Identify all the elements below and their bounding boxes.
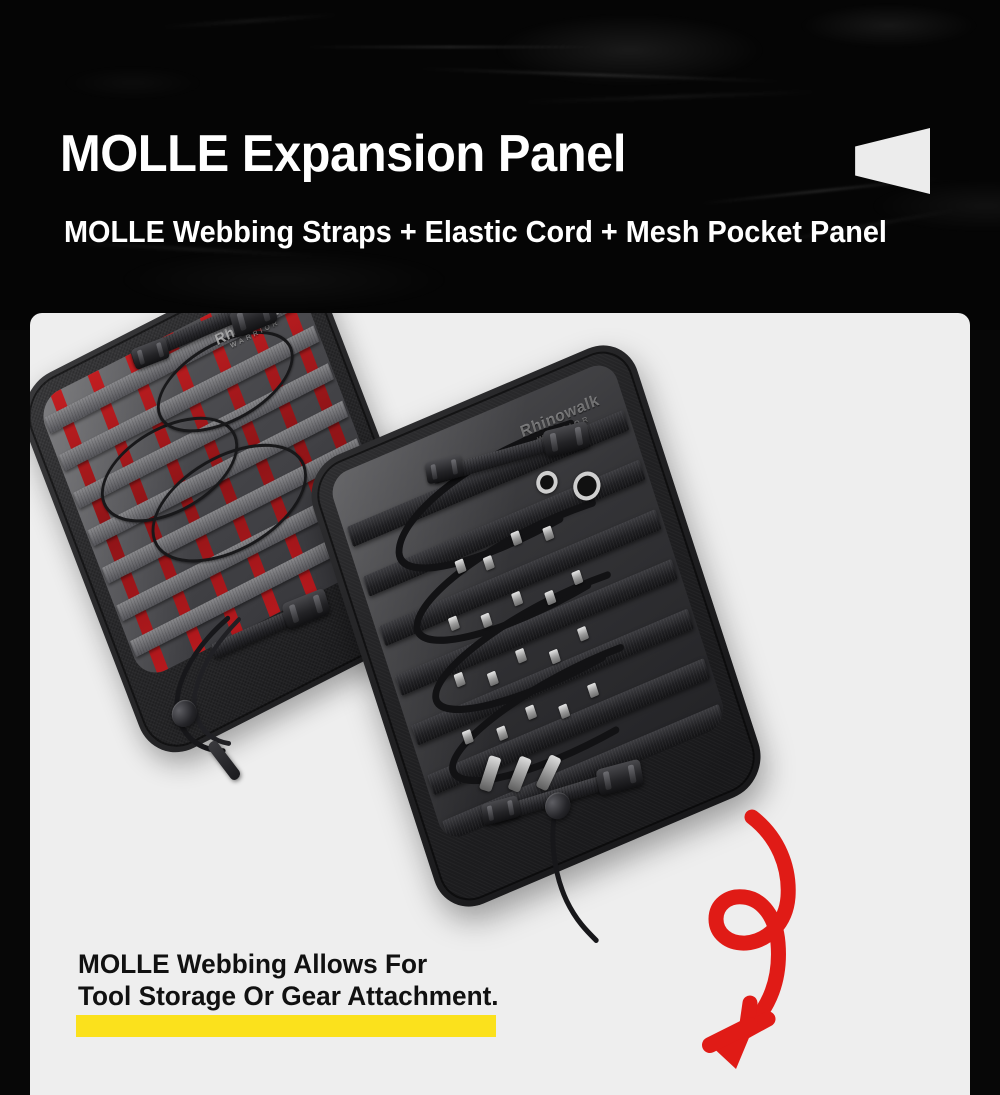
page-subtitle: MOLLE Webbing Straps + Elastic Cord + Me… xyxy=(64,216,887,247)
page-title: MOLLE Expansion Panel xyxy=(60,128,626,180)
caption-line-1: MOLLE Webbing Allows For xyxy=(78,949,499,981)
promo-image-root: MOLLE Expansion Panel MOLLE Webbing Stra… xyxy=(0,0,1000,1095)
product-photo-card: Rhinowalk WARRIOR xyxy=(30,313,970,1095)
caption-line-2: Tool Storage Or Gear Attachment. xyxy=(78,981,499,1013)
caption-block: MOLLE Webbing Allows For Tool Storage Or… xyxy=(78,949,512,1013)
red-curved-arrow xyxy=(650,793,950,1093)
caption-highlight-bar xyxy=(76,1015,496,1037)
